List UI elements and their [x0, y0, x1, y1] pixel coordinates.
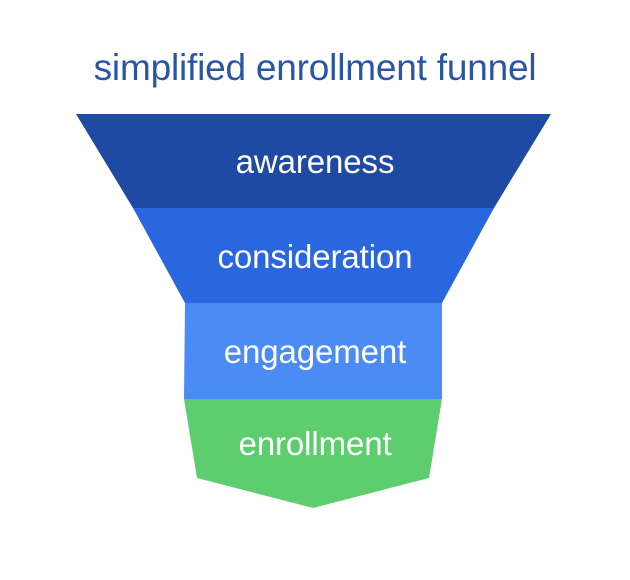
funnel-label-consideration: consideration — [0, 238, 630, 276]
page-title: simplified enrollment funnel — [0, 46, 630, 90]
funnel-label-enrollment: enrollment — [0, 425, 630, 463]
funnel-label-awareness: awareness — [0, 143, 630, 181]
funnel-label-engagement: engagement — [0, 333, 630, 371]
